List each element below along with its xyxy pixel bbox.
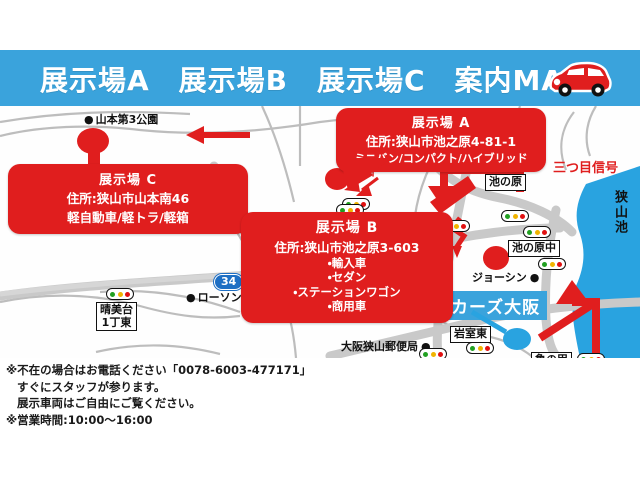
- traffic-signal-kamenoko: [577, 353, 605, 358]
- intersection-kamenoko: 亀の甲: [531, 352, 572, 358]
- page-title: 展示場A 展示場B 展示場C 案内MAP: [40, 59, 586, 99]
- callout-a-tail: [336, 158, 416, 192]
- callout-c-subtitle: 軽自動車/軽トラ/軽箱: [12, 207, 244, 226]
- intersection-line2: 1丁東: [102, 316, 132, 329]
- red-car-icon: [543, 57, 615, 101]
- annotation-third-signal: 三つ目信号: [553, 157, 618, 176]
- callout-b-address: 住所:狭山市池之原3-603: [245, 237, 449, 256]
- traffic-signal-harumidai: [106, 288, 134, 300]
- callout-exhibition-b[interactable]: 展示場 B 住所:狭山市池之原3-603 ・輸入車 ・セダン ・ステーションワゴ…: [241, 212, 453, 323]
- landmark-joshin: ジョーシン: [472, 272, 539, 284]
- traffic-signal-ikenohara: [501, 210, 529, 222]
- traffic-signal-ikenohara-naka: [523, 226, 551, 238]
- callout-exhibition-c[interactable]: 展示場 C 住所:狭山市山本南46 軽自動車/軽トラ/軽箱: [8, 164, 248, 234]
- callout-b-item-3: ・商用車: [245, 299, 449, 313]
- landmark-post-office: 大阪狭山郵便局: [341, 341, 431, 353]
- traffic-signal-iwamuro: [419, 348, 447, 358]
- callout-c-title: 展示場 C: [12, 169, 244, 188]
- footer-note: ※不在の場合はお電話ください「0078-6003-477171」 すぐにスタッフ…: [6, 362, 306, 429]
- water-label-sayama-pond: 狭山池: [611, 190, 626, 235]
- top-padding: [0, 0, 640, 50]
- callout-b-title: 展示場 B: [245, 217, 449, 237]
- footer-line-4: ※営業時間:10:00～16:00: [6, 412, 306, 429]
- bottom-padding: [0, 438, 640, 480]
- callout-b-item-0: ・輸入車: [245, 256, 449, 270]
- intersection-ikenohara: 池の原: [485, 174, 526, 191]
- callout-b-item-1: ・セダン: [245, 270, 449, 284]
- callout-c-address: 住所:狭山市山本南46: [12, 188, 244, 207]
- intersection-line1: 池の原中: [512, 241, 556, 254]
- intersection-ikenohara-naka: 池の原中: [508, 240, 560, 257]
- footer-line-3: 展示車両はご自由にご覧ください。: [6, 395, 306, 412]
- callout-a-title: 展示場 A: [340, 112, 542, 131]
- intersection-line1: 晴美台: [100, 303, 133, 316]
- intersection-line1: 亀の甲: [535, 353, 568, 358]
- callout-b-item-2: ・ステーションワゴン: [245, 285, 449, 299]
- callout-a-address: 住所:狭山市池之原4-81-1: [340, 131, 542, 150]
- map-page: 展示場A 展示場B 展示場C 案内MAP: [0, 0, 640, 480]
- map-canvas[interactable]: 山本第3公園 ローソン ジョーシン 大阪狭山郵便局 大阪狭山市立西小 晴美台 1…: [0, 106, 640, 358]
- footer-line-2: すぐにスタッフが参ります。: [6, 379, 306, 396]
- landmark-lawson: ローソン: [186, 292, 242, 304]
- traffic-signal-joshin: [538, 258, 566, 270]
- intersection-harumidai-1chome-higashi: 晴美台 1丁東: [96, 302, 137, 331]
- red-arrow-west-top: [186, 126, 250, 144]
- marker-exhibition-b: [483, 246, 509, 270]
- footer-line-1: ※不在の場合はお電話ください「0078-6003-477171」: [6, 362, 306, 379]
- traffic-signal-post-office: [466, 342, 494, 354]
- destination-leader-line: [470, 310, 520, 336]
- route-shield-34: 34: [214, 274, 243, 290]
- intersection-line1: 池の原: [489, 175, 522, 188]
- landmark-yamamoto-3rd-park: 山本第3公園: [84, 114, 158, 126]
